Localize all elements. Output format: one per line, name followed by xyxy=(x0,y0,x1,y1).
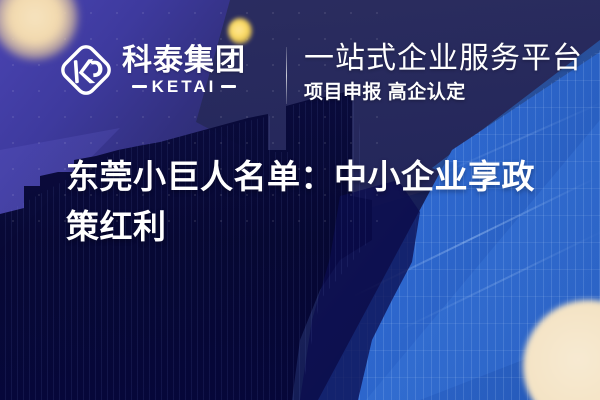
header-divider xyxy=(286,47,287,104)
dash-right-icon xyxy=(221,85,236,88)
glow-dot-gold xyxy=(228,18,252,44)
promo-banner: 科泰集团 KETAI 一站式企业服务平台 项目申报 高企认定 东莞小巨人名单：中… xyxy=(0,0,600,400)
brand-name-en-row: KETAI xyxy=(132,78,237,95)
ketai-diamond-monogram-icon xyxy=(58,42,114,98)
brand-header: 科泰集团 KETAI xyxy=(58,42,246,98)
slogan-block: 一站式企业服务平台 项目申报 高企认定 xyxy=(304,42,583,104)
slogan-sub: 项目申报 高企认定 xyxy=(304,82,583,105)
page-title: 东莞小巨人名单：中小企业享政策红利 xyxy=(66,152,546,252)
slogan-main: 一站式企业服务平台 xyxy=(304,42,583,77)
brand-name-cn: 科泰集团 xyxy=(122,45,246,77)
dash-left-icon xyxy=(132,85,147,88)
brand-name-en: KETAI xyxy=(152,78,217,95)
brand-wordmark: 科泰集团 KETAI xyxy=(122,45,246,96)
